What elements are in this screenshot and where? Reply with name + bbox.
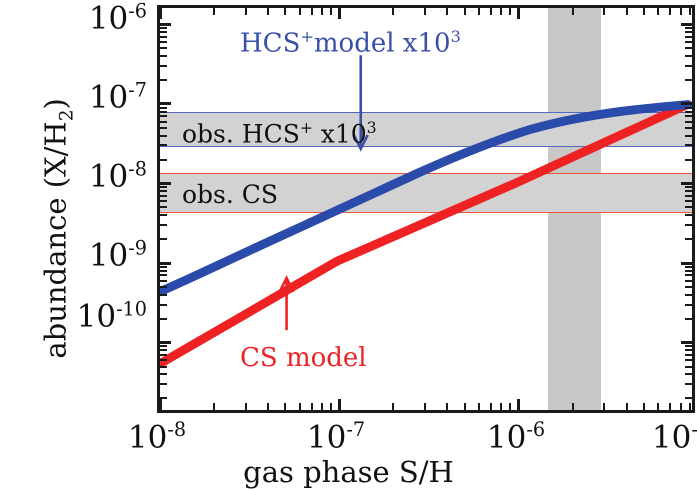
y-tick-label: 10-6 [89,0,147,37]
x-minor-tick [490,403,492,410]
y-minor-tick [160,304,167,306]
y-minor-tick [685,366,692,368]
y-major-tick [681,341,692,344]
obs-cs-band-label: obs. CS [182,180,278,209]
x-minor-tick [657,8,659,15]
x-minor-tick [245,403,247,410]
x-major-tick [338,8,341,19]
y-minor-tick [685,270,692,272]
y-major-tick [160,102,171,105]
y-minor-tick [685,200,692,202]
x-major-tick [159,399,162,410]
y-minor-tick [160,373,167,375]
y-minor-tick [685,47,692,49]
y-minor-tick [685,266,692,268]
x-minor-tick [424,403,426,410]
y-minor-tick [160,186,167,188]
x-minor-tick [669,403,671,410]
y-minor-tick [160,107,167,109]
y-tick-label: 10-10 [77,297,147,334]
y-minor-tick [160,135,167,137]
y-minor-tick [160,383,167,385]
x-minor-tick [213,8,215,15]
x-minor-tick [500,8,502,15]
y-major-tick [681,262,692,265]
cs-model-arrow [280,278,294,330]
x-minor-tick [689,8,691,15]
x-minor-tick [689,403,691,410]
y-minor-tick [685,65,692,67]
x-minor-tick [213,403,215,410]
y-minor-tick [160,280,167,282]
y-minor-tick [685,121,692,123]
y-minor-tick [160,286,167,288]
y-minor-tick [160,200,167,202]
y-minor-tick [160,144,167,146]
x-minor-tick [392,8,394,15]
x-minor-tick [464,403,466,410]
y-minor-tick [685,318,692,320]
x-minor-tick [478,8,480,15]
y-minor-tick [160,41,167,43]
x-minor-tick [446,8,448,15]
y-major-tick [160,23,171,26]
y-tick-label: 10-7 [89,78,147,115]
x-minor-tick [424,8,426,15]
x-minor-tick [490,8,492,15]
y-minor-tick [685,79,692,81]
y-minor-tick [685,286,692,288]
y-minor-tick [160,159,167,161]
y-minor-tick [685,190,692,192]
y-major-tick [681,182,692,185]
y-minor-tick [685,195,692,197]
y-minor-tick [160,65,167,67]
x-minor-tick [311,8,313,15]
x-minor-tick [680,8,682,15]
x-tick-label: 10-8 [128,418,186,455]
y-minor-tick [685,159,692,161]
y-minor-tick [160,111,167,113]
y-minor-tick [685,206,692,208]
y-minor-tick [160,115,167,117]
y-minor-tick [160,294,167,296]
x-minor-tick [330,8,332,15]
hcs-model-label: HCS+model x103 [240,27,461,59]
x-minor-tick [603,403,605,410]
x-minor-tick [284,8,286,15]
y-minor-tick [160,345,167,347]
x-minor-tick [572,403,574,410]
y-major-tick [681,23,692,26]
y-minor-tick [685,111,692,113]
y-minor-tick [160,47,167,49]
x-minor-tick [311,403,313,410]
y-minor-tick [685,280,692,282]
y-minor-tick [685,304,692,306]
y-minor-tick [160,274,167,276]
y-minor-tick [160,318,167,320]
y-axis-title: abundance (X/H2) [39,18,78,438]
y-major-tick [681,102,692,105]
x-minor-tick [299,403,301,410]
y-tick-label: 10-9 [89,236,147,273]
x-minor-tick [392,403,394,410]
y-minor-tick [160,349,167,351]
y-minor-tick [160,224,167,226]
x-minor-tick [245,8,247,15]
y-minor-tick [160,270,167,272]
y-minor-tick [685,397,692,399]
y-minor-tick [160,121,167,123]
y-minor-tick [160,366,167,368]
y-minor-tick [160,27,167,29]
x-axis-title: gas phase S/H [0,455,697,489]
y-minor-tick [160,238,167,240]
x-minor-tick [446,403,448,410]
x-tick-label: 10-7 [307,418,365,455]
x-minor-tick [626,8,628,15]
y-minor-tick [685,127,692,129]
y-minor-tick [685,214,692,216]
x-minor-tick [572,8,574,15]
x-minor-tick [464,8,466,15]
y-minor-tick [685,115,692,117]
y-minor-tick [160,206,167,208]
y-minor-tick [685,186,692,188]
y-minor-tick [160,214,167,216]
y-minor-tick [685,383,692,385]
y-minor-tick [685,27,692,29]
y-minor-tick [685,238,692,240]
x-minor-tick [669,8,671,15]
y-minor-tick [160,266,167,268]
x-minor-tick [267,403,269,410]
y-minor-tick [685,36,692,38]
y-minor-tick [685,373,692,375]
y-minor-tick [685,274,692,276]
y-minor-tick [160,36,167,38]
y-minor-tick [160,31,167,33]
y-minor-tick [685,354,692,356]
cs-model-label: CS model [240,343,367,373]
y-minor-tick [685,345,692,347]
y-major-tick [160,182,171,185]
y-minor-tick [160,190,167,192]
x-minor-tick [299,8,301,15]
y-minor-tick [160,127,167,129]
y-minor-tick [685,41,692,43]
x-minor-tick [680,403,682,410]
x-major-tick [338,399,341,410]
x-major-tick [517,8,520,19]
plot-area: obs. HCS+ x103 obs. CS HCS+model x103 CS… [157,5,695,413]
x-minor-tick [321,8,323,15]
y-minor-tick [160,55,167,57]
x-minor-tick [267,8,269,15]
x-minor-tick [321,403,323,410]
x-minor-tick [330,403,332,410]
x-tick-label: 10-6 [487,418,545,455]
y-minor-tick [685,294,692,296]
x-minor-tick [626,403,628,410]
y-minor-tick [685,31,692,33]
y-major-tick [160,262,171,265]
x-minor-tick [603,8,605,15]
x-minor-tick [643,8,645,15]
x-minor-tick [509,403,511,410]
x-tick-label: 10-5 [652,418,697,455]
y-minor-tick [160,195,167,197]
y-minor-tick [160,359,167,361]
y-minor-tick [160,354,167,356]
y-minor-tick [160,79,167,81]
y-tick-label: 10-8 [89,157,147,194]
y-minor-tick [685,349,692,351]
y-minor-tick [685,107,692,109]
x-major-tick [159,8,162,19]
x-minor-tick [657,403,659,410]
y-minor-tick [685,359,692,361]
y-major-tick [160,341,171,344]
y-minor-tick [685,224,692,226]
y-minor-tick [685,55,692,57]
x-minor-tick [643,403,645,410]
x-minor-tick [509,8,511,15]
x-minor-tick [284,403,286,410]
y-minor-tick [685,135,692,137]
x-major-tick [517,399,520,410]
obs-hcs-band-label: obs. HCS+ x103 [182,119,377,148]
figure-root: 10-6 10-7 10-8 10-9 10-10 abundance (X/H… [0,0,697,488]
y-minor-tick [685,144,692,146]
x-minor-tick [500,403,502,410]
x-minor-tick [478,403,480,410]
